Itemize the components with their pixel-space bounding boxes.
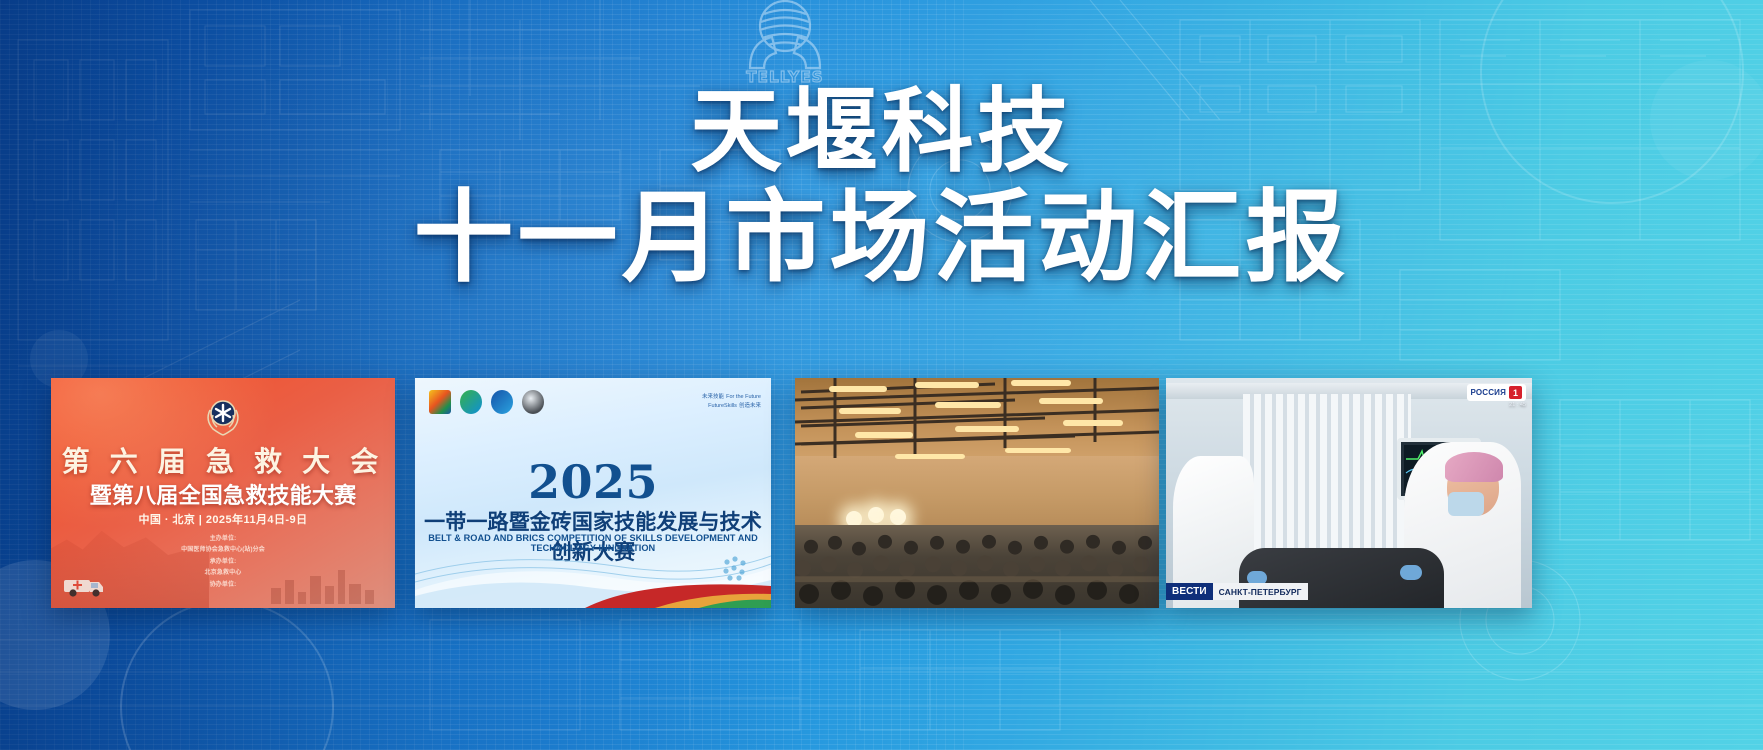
poster-heading: 第 六 届 急 救 大 会 (51, 440, 395, 480)
poster-year: 2025 (415, 455, 771, 509)
slogan-cn-top: 未来技能 (702, 394, 724, 400)
channel-name: РОССИЯ (1471, 388, 1506, 397)
ceiling-truss-lights (795, 378, 1159, 478)
broadcast-timestamp: 21 : 45 (1509, 402, 1526, 409)
card-belt-road-brics-poster[interactable]: 未来技能 For the Future FutureSkills 创造未来 20… (415, 378, 771, 608)
tellyes-logo (522, 390, 544, 414)
brics-logo (429, 390, 451, 414)
card-conference-hall-photo[interactable] (795, 378, 1159, 608)
stage-light (868, 507, 884, 523)
organizer-name: 中国医师协会急救中心(站)分会 (51, 545, 395, 556)
photo-card-row: 第 六 届 急 救 大 会 暨第八届全国急救技能大赛 中国 · 北京 | 202… (0, 0, 1763, 750)
slogan-line-2: FutureSkills 创造未来 (702, 401, 761, 410)
shield-logo (491, 390, 513, 414)
dot-cluster-graphic (721, 554, 749, 582)
organizer-label: 主办单位: (51, 534, 395, 545)
poster-location-date: 中国 · 北京 | 2025年11月4日-9日 (51, 511, 395, 527)
face-mask (1448, 492, 1484, 516)
futureskills-slogan: 未来技能 For the Future FutureSkills 创造未来 (702, 392, 761, 409)
card-russia-news-photo[interactable]: 88 120/80 РОССИЯ 1 21 : 45 ВЕСТИ САНКТ-П… (1166, 378, 1532, 608)
channel-number: 1 (1509, 386, 1522, 399)
ambulance-icon (61, 572, 107, 598)
glove (1400, 565, 1422, 580)
star-of-life-emblem (200, 394, 246, 440)
poster-canvas: TELLYES 天堰科技 十一月市场活动汇报 第 (0, 0, 1763, 750)
card-emergency-conference-poster[interactable]: 第 六 届 急 救 大 会 暨第八届全国急救技能大赛 中国 · 北京 | 202… (51, 378, 395, 608)
lower-third-banner: ВЕСТИ САНКТ-ПЕТЕРБУРГ (1166, 583, 1308, 600)
lower-third-secondary: САНКТ-ПЕТЕРБУРГ (1213, 583, 1308, 600)
slogan-en-bottom: FutureSkills (708, 403, 737, 409)
slogan-cn-bottom: 创造未来 (739, 403, 761, 409)
partner-logo-row (429, 390, 544, 414)
poster-subheading: 暨第八届全国急救技能大赛 (51, 478, 395, 510)
stage-light (890, 509, 906, 525)
city-skyline-silhouette (267, 568, 387, 604)
audience-crowd (795, 525, 1159, 608)
crowd-silhouettes (795, 525, 1159, 608)
star-logo (460, 390, 482, 414)
poster-wave-graphic (415, 534, 771, 608)
nurse-cap (1445, 452, 1503, 482)
slogan-en-top: For the Future (726, 394, 761, 400)
rossiya-channel-logo: РОССИЯ 1 (1467, 384, 1526, 401)
slogan-line-1: 未来技能 For the Future (702, 392, 761, 401)
lower-third-primary: ВЕСТИ (1166, 583, 1213, 600)
host-label: 承办单位: (51, 557, 395, 568)
